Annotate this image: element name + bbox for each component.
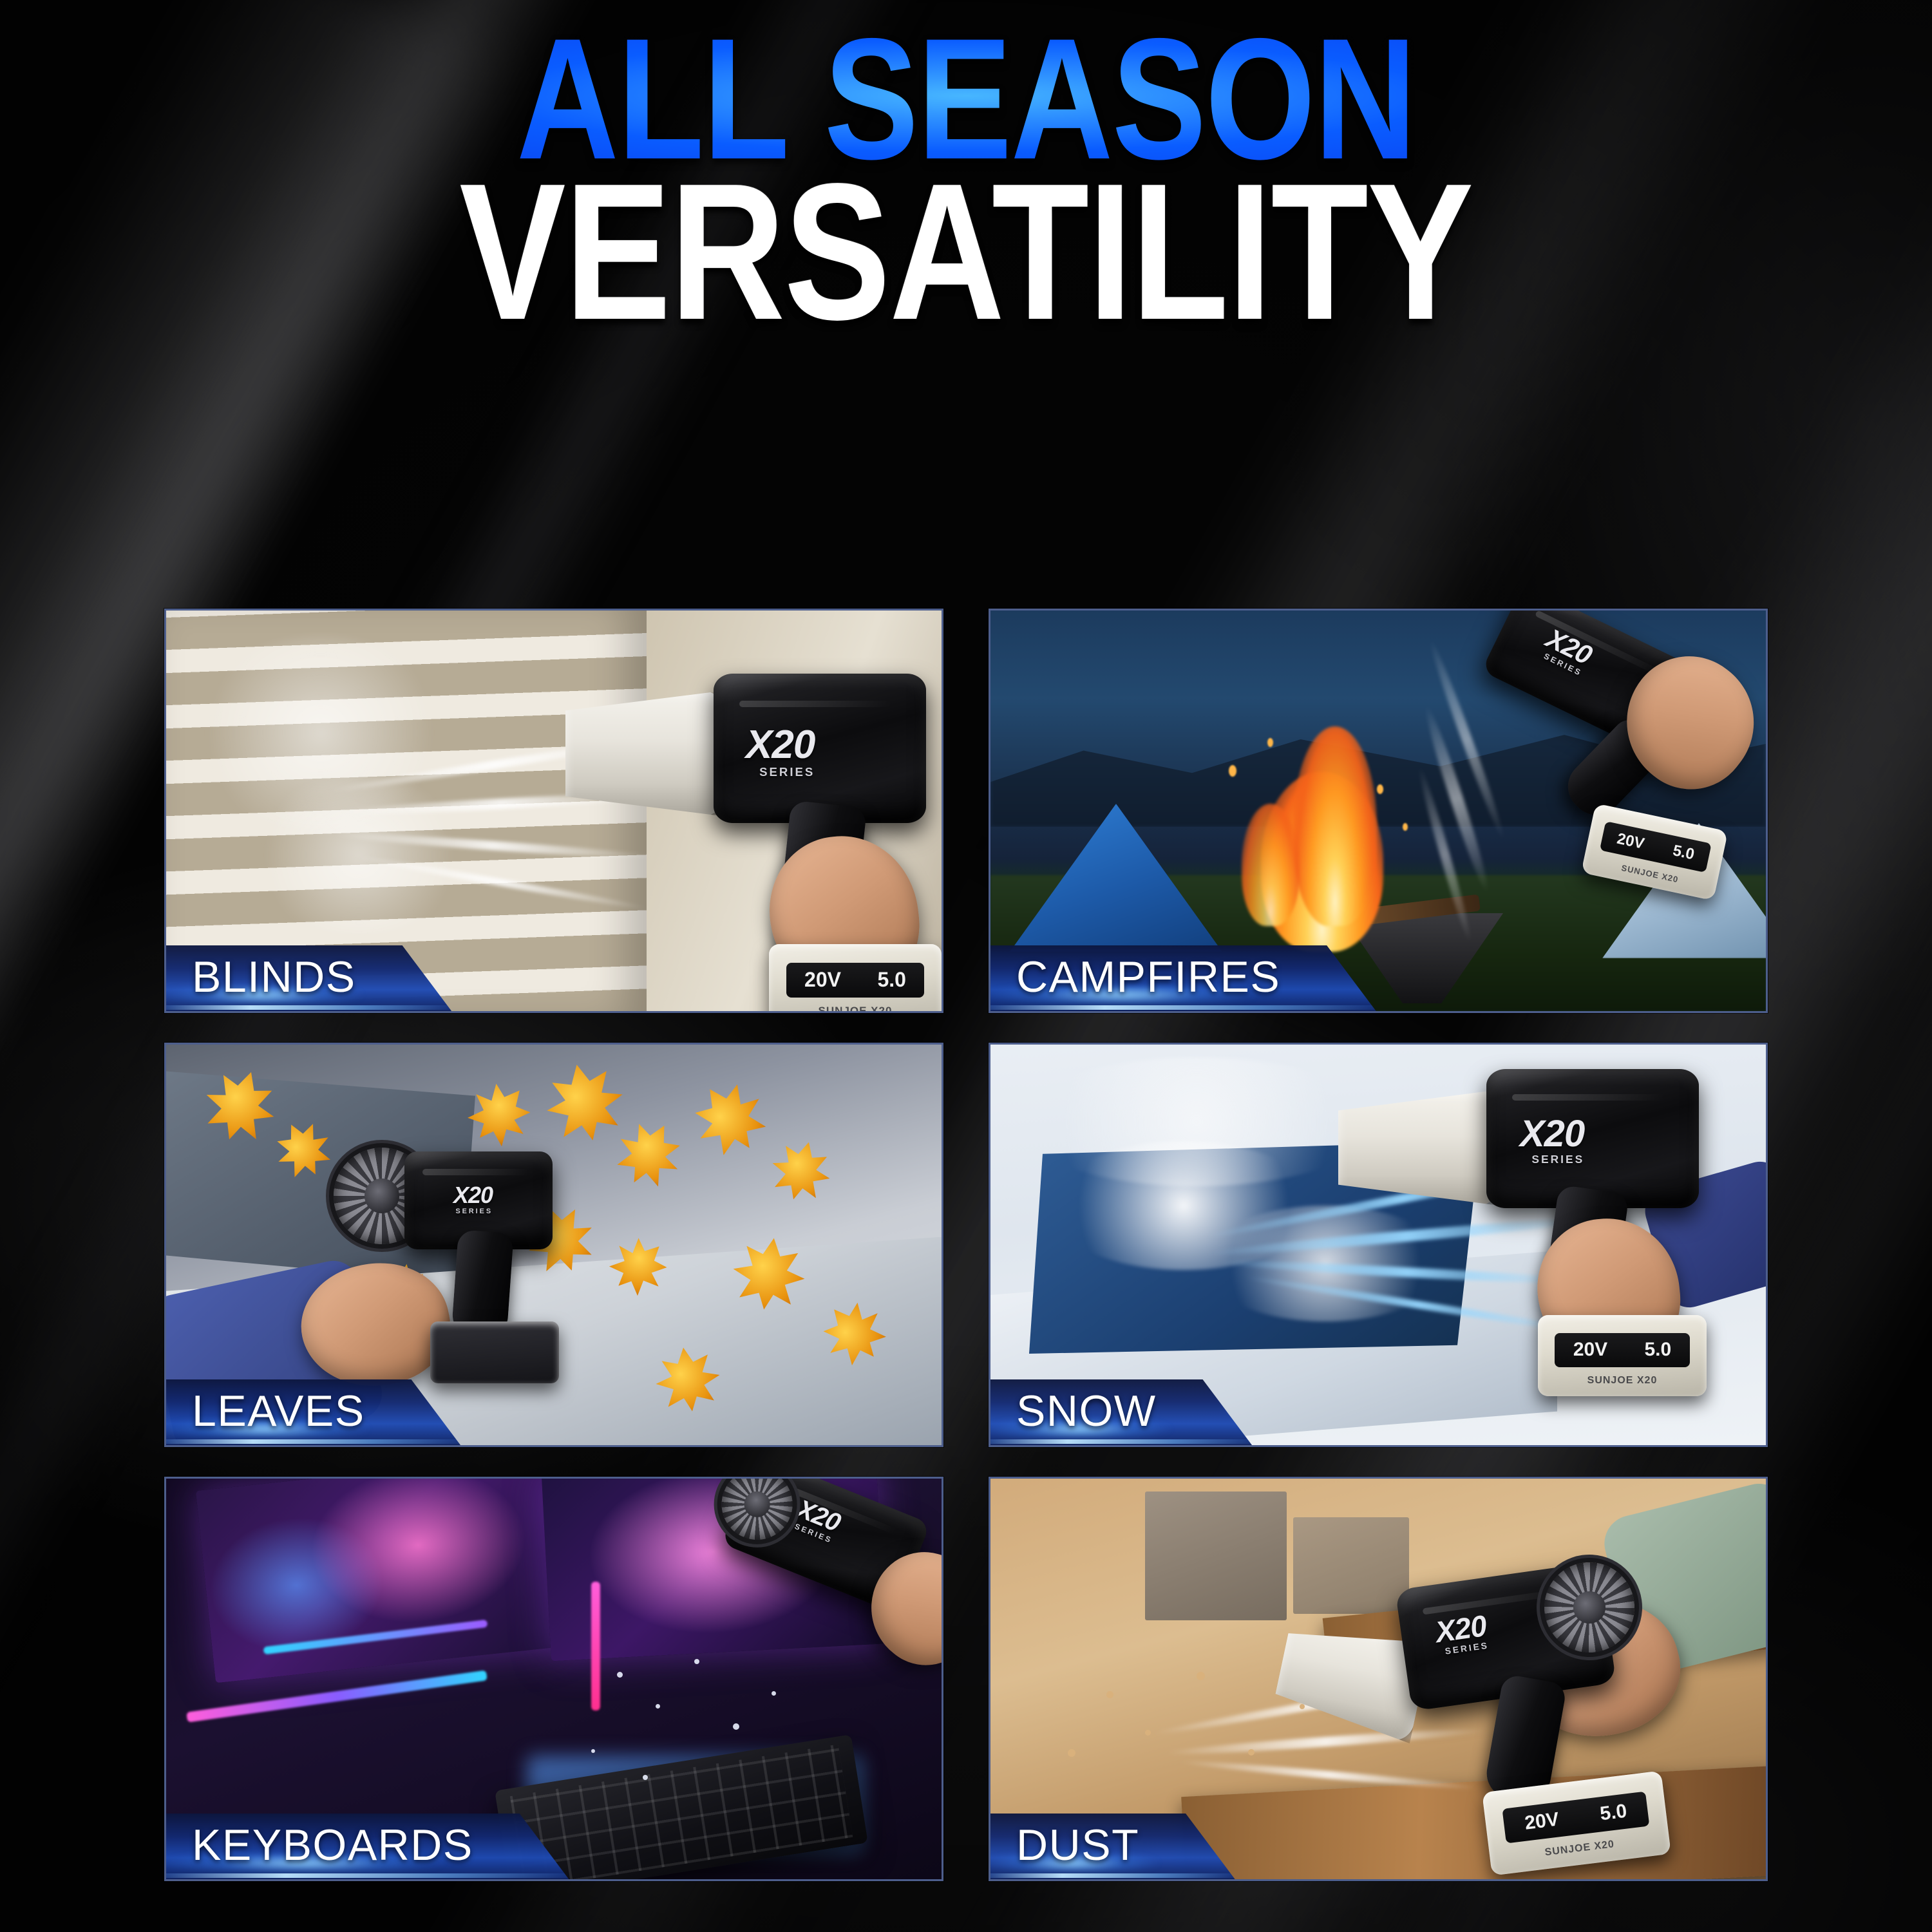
scene-dust-particle	[591, 1749, 595, 1753]
device-battery	[430, 1321, 559, 1383]
battery-capacity: 5.0	[1599, 1800, 1629, 1825]
product-blower-device: X20 SERIES 20V 5.0 SUNJOE X20	[1300, 1517, 1660, 1852]
product-blower-device: X20 SERIES	[334, 1128, 611, 1405]
scene-ember	[1267, 738, 1273, 747]
scene-monitor	[196, 1479, 562, 1683]
scene-ember	[1377, 784, 1383, 794]
scene-dust-particle	[643, 1775, 648, 1780]
headline-line-2: VERSATILITY	[174, 174, 1758, 330]
device-logo-text: X20	[453, 1182, 493, 1208]
tile-label-badge-leaves: LEAVES	[164, 1379, 462, 1446]
device-logo: X20 SERIES	[1520, 1115, 1584, 1165]
scene-sawdust-particle	[1068, 1749, 1075, 1757]
battery-capacity: 5.0	[1644, 1339, 1671, 1361]
headline-block: ALL SEASON VERSATILITY	[0, 30, 1932, 330]
device-logo-text: X20	[1520, 1113, 1584, 1155]
scene-ember	[1229, 765, 1236, 777]
scene-dust-particle	[617, 1672, 623, 1678]
tile-label-text: CAMPFIRES	[1016, 952, 1280, 1002]
device-logo: X20 SERIES	[453, 1184, 493, 1215]
tile-label-badge-campfires: CAMPFIRES	[989, 945, 1377, 1012]
feature-tile-campfires[interactable]: X20 SERIES 20V 5.0 SUNJOE X20 CAMPFIRES	[989, 609, 1768, 1013]
feature-tile-leaves[interactable]: X20 SERIES LEAVES	[164, 1043, 943, 1447]
scene-dust-particle	[694, 1659, 699, 1664]
scene-sawdust-particle	[1145, 1730, 1151, 1736]
tile-label-text: LEAVES	[192, 1386, 365, 1436]
battery-voltage: 20V	[804, 968, 841, 992]
product-blower-device: X20 SERIES 20V 5.0 SUNJOE X20	[617, 643, 942, 1003]
device-logo-sub: SERIES	[746, 766, 815, 779]
scene-sawdust-particle	[1248, 1749, 1255, 1756]
device-logo: X20 SERIES	[1434, 1611, 1490, 1657]
device-logo-sub: SERIES	[453, 1208, 493, 1215]
battery-voltage: 20V	[1524, 1808, 1560, 1834]
scene-frost	[1016, 1057, 1377, 1186]
scene-sawdust-particle	[1197, 1672, 1205, 1680]
device-battery: 20V 5.0 SUNJOE X20	[769, 944, 942, 1011]
tile-label-text: KEYBOARDS	[192, 1820, 473, 1870]
device-nozzle	[565, 690, 726, 817]
scene-dust-particle	[772, 1691, 776, 1696]
battery-capacity: 5.0	[877, 968, 905, 992]
feature-tile-blinds[interactable]: X20 SERIES 20V 5.0 SUNJOE X20 BLINDS	[164, 609, 943, 1013]
device-logo-text: X20	[746, 723, 815, 767]
feature-tile-keyboards[interactable]: X20 SERIES KEYBOARDS	[164, 1477, 943, 1881]
device-battery: 20V 5.0 SUNJOE X20	[1538, 1315, 1707, 1396]
feature-tile-grid: X20 SERIES 20V 5.0 SUNJOE X20 BLINDS	[164, 609, 1768, 1881]
battery-capacity: 5.0	[1671, 842, 1696, 864]
scene-flame	[1242, 804, 1300, 926]
scene-brick	[1145, 1492, 1287, 1620]
battery-label-plate: 20V 5.0	[1502, 1791, 1649, 1843]
tile-label-badge-keyboards: KEYBOARDS	[164, 1814, 570, 1880]
battery-label-plate: 20V 5.0	[786, 963, 924, 998]
battery-brand: SUNJOE X20	[790, 1005, 921, 1011]
tile-label-text: SNOW	[1016, 1386, 1157, 1436]
battery-label-plate: 20V 5.0	[1555, 1333, 1690, 1367]
device-logo-sub: SERIES	[1520, 1154, 1584, 1165]
tile-label-text: DUST	[1016, 1820, 1139, 1870]
feature-tile-dust[interactable]: X20 SERIES 20V 5.0 SUNJOE X20 DUST	[989, 1477, 1768, 1881]
device-body	[1486, 1069, 1699, 1208]
feature-tile-snow[interactable]: X20 SERIES 20V 5.0 SUNJOE X20 SNOW	[989, 1043, 1768, 1447]
scene-sawdust-particle	[1106, 1691, 1113, 1698]
scene-ember	[1403, 823, 1408, 831]
scene-dust-particle	[656, 1704, 660, 1709]
scene-flame	[1293, 726, 1377, 926]
battery-brand: SUNJOE X20	[1558, 1375, 1686, 1387]
battery-voltage: 20V	[1615, 830, 1646, 853]
device-logo: X20 SERIES	[746, 725, 815, 779]
battery-voltage: 20V	[1573, 1339, 1607, 1361]
scene-dust-cloud	[243, 778, 475, 933]
product-blower-device: X20 SERIES 20V 5.0 SUNJOE X20	[1377, 1045, 1738, 1360]
scene-dust-particle	[733, 1723, 739, 1730]
scene-monitor-screen	[196, 1479, 562, 1683]
scene-rgb-light-strip	[591, 1582, 600, 1710]
tile-label-text: BLINDS	[192, 952, 356, 1002]
tile-label-badge-blinds: BLINDS	[164, 945, 453, 1012]
